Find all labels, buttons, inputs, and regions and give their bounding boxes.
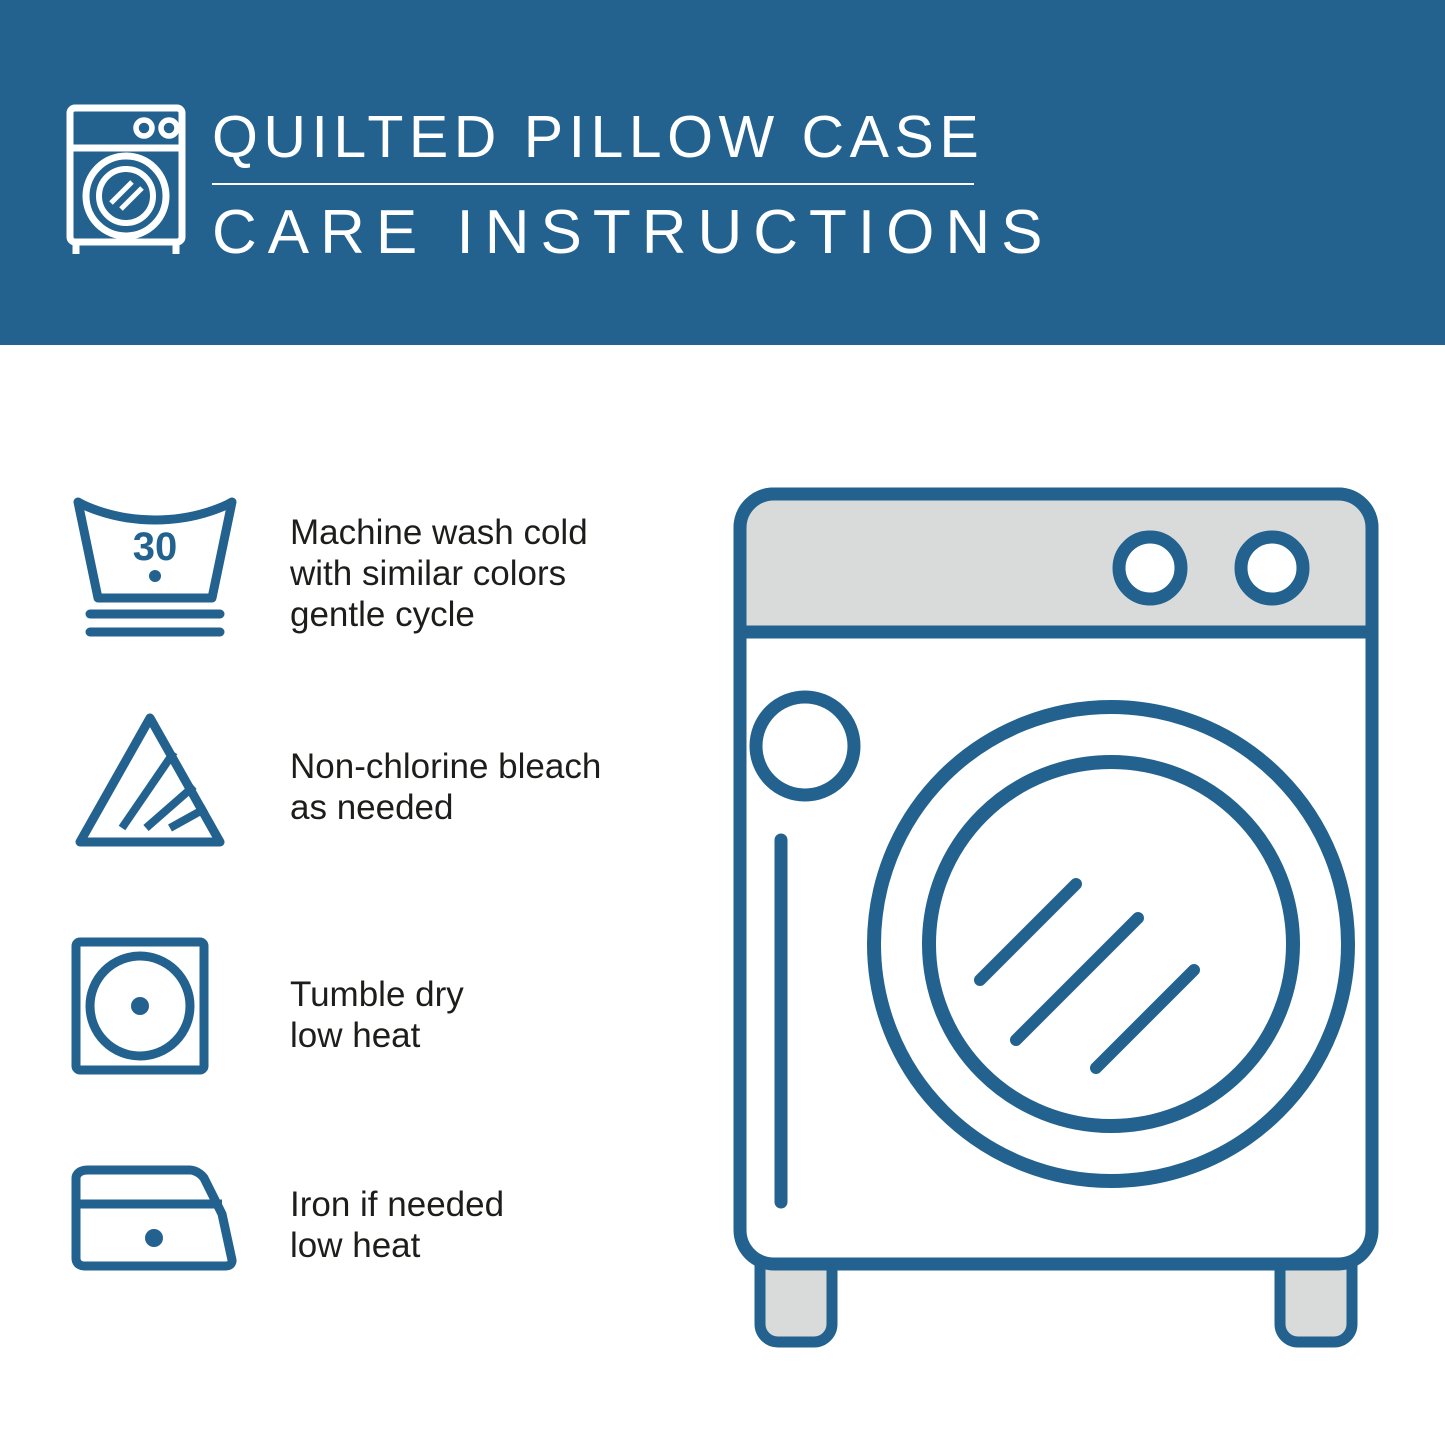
page-header: QUILTED PILLOW CASE CARE INSTRUCTIONS xyxy=(0,0,1445,345)
washer-knob-right xyxy=(1241,537,1303,599)
care-label-iron: Iron if needed low heat xyxy=(290,1184,504,1266)
care-label-bleach: Non-chlorine bleach as needed xyxy=(290,746,601,828)
title-divider xyxy=(212,183,974,185)
page-subtitle: CARE INSTRUCTIONS xyxy=(212,195,1112,271)
wash-temperature-value: 30 xyxy=(133,525,178,569)
non-chlorine-bleach-triangle-icon xyxy=(70,708,230,858)
header-text-block: QUILTED PILLOW CASE CARE INSTRUCTIONS xyxy=(212,100,1112,271)
care-label-machine-wash: Machine wash cold with similar colors ge… xyxy=(290,512,588,635)
iron-low-heat-icon xyxy=(70,1152,240,1282)
tumble-dry-low-icon xyxy=(70,936,210,1081)
washer-knob-left xyxy=(1119,537,1181,599)
care-label-tumble-dry: Tumble dry low heat xyxy=(290,974,464,1056)
page-title: QUILTED PILLOW CASE xyxy=(212,100,1112,174)
washer-indicator-light xyxy=(756,697,854,795)
front-load-washing-machine-illustration xyxy=(726,480,1386,1360)
washing-machine-icon xyxy=(66,104,186,256)
care-instructions-page: QUILTED PILLOW CASE CARE INSTRUCTIONS 30… xyxy=(0,0,1445,1445)
wash-tub-30-icon: 30 xyxy=(70,480,240,645)
